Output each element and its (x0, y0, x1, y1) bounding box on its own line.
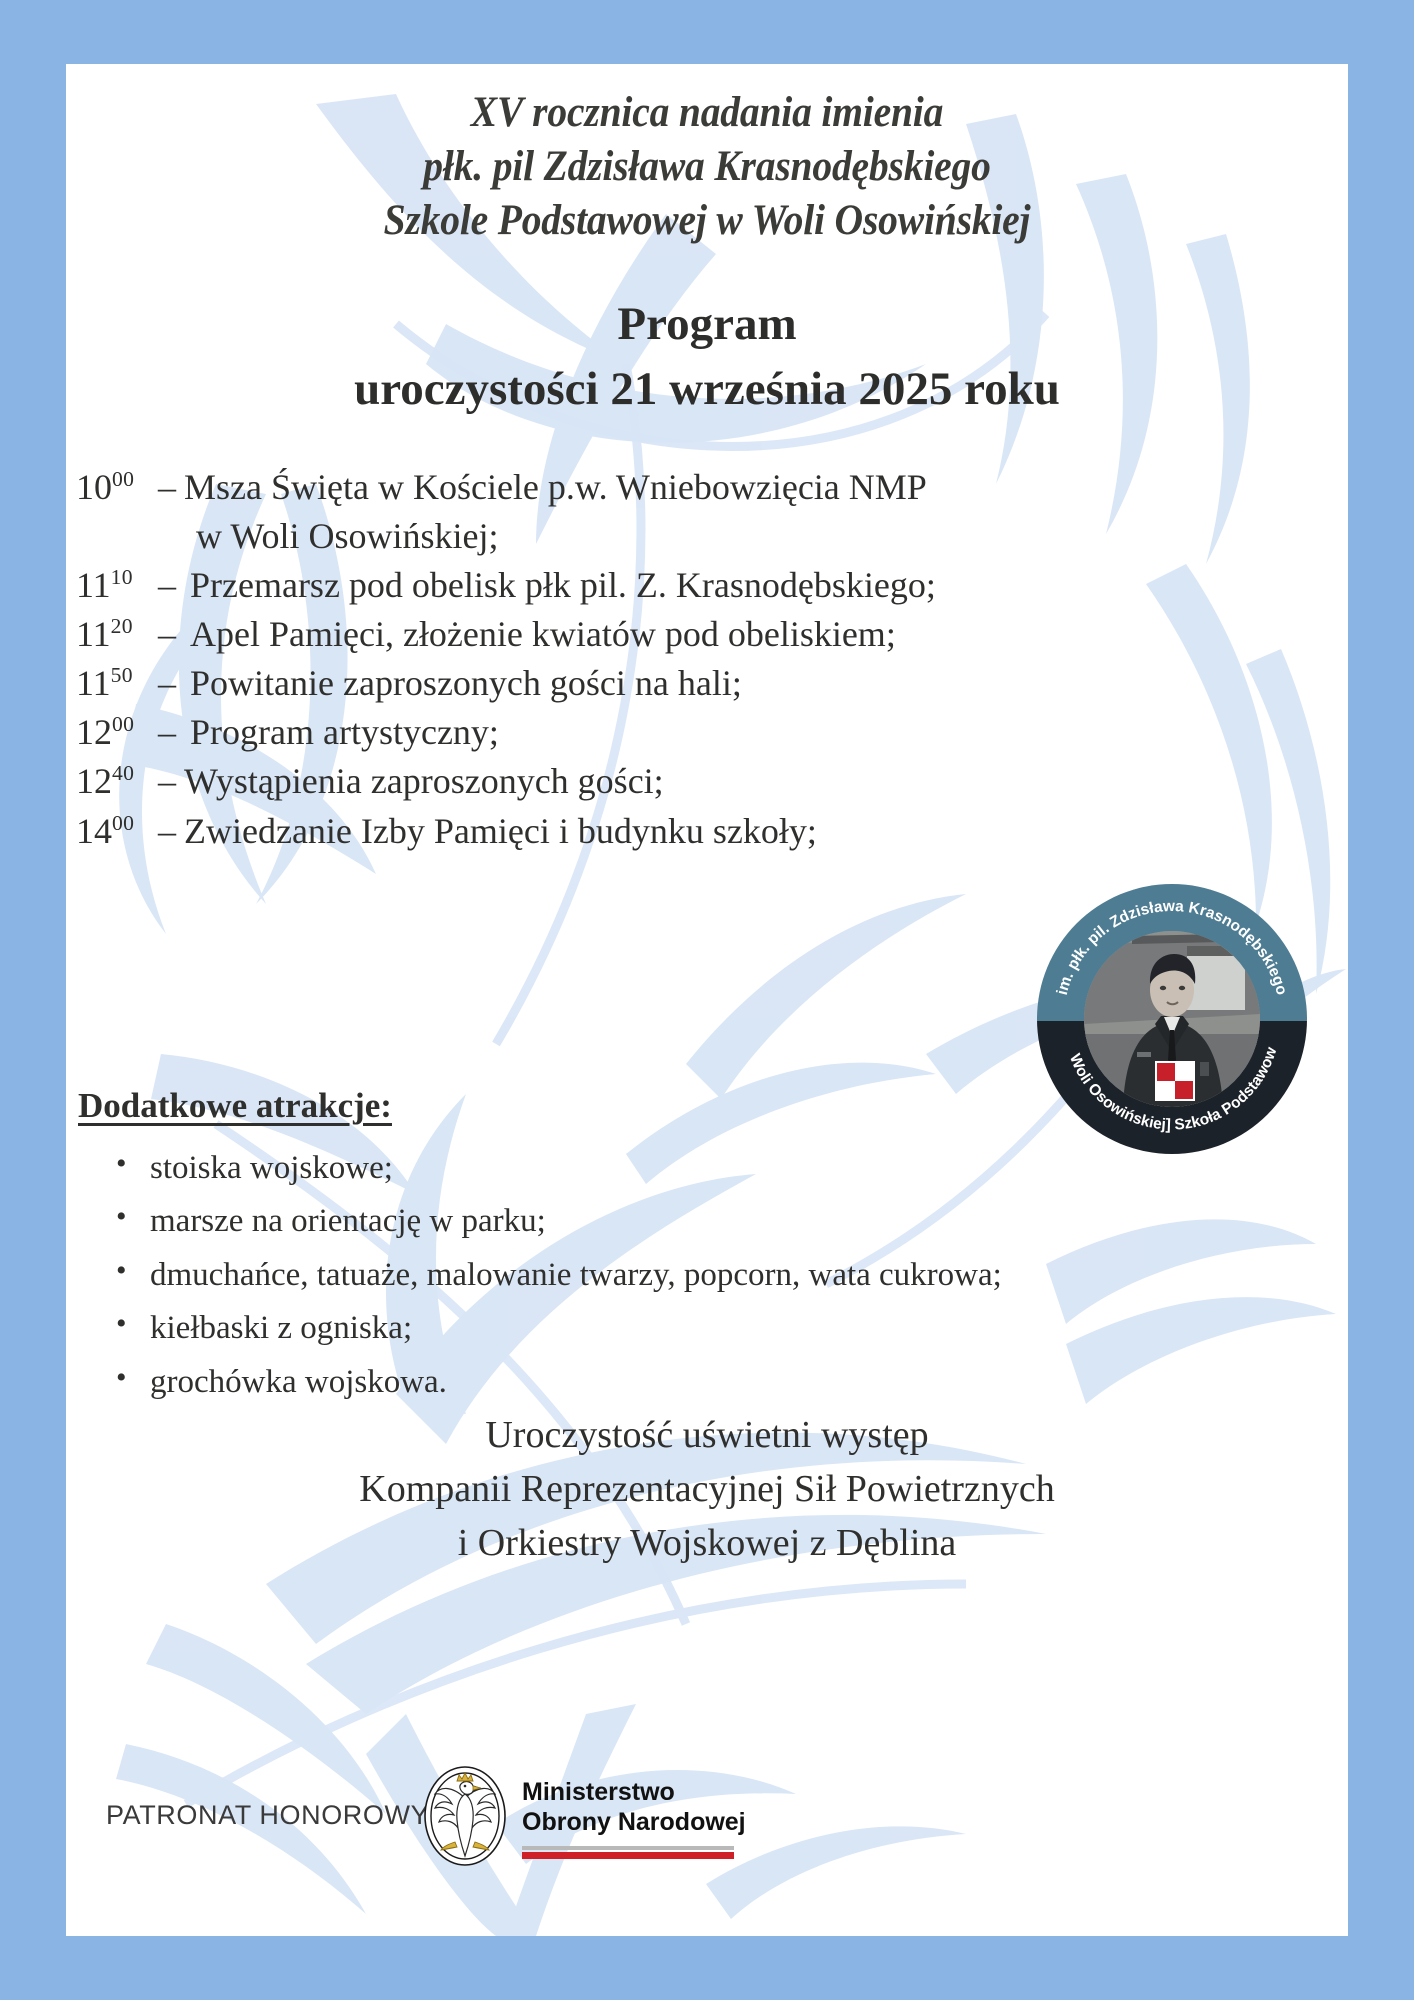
schedule-item: 1150 – Powitanie zaproszonych gości na h… (76, 660, 1076, 706)
schedule-text: Zwiedzanie Izby Pamięci i budynku szkoły… (184, 808, 817, 854)
closing-line-2: Kompanii Reprezentacyjnej Sił Powietrzny… (66, 1463, 1348, 1517)
schedule-item: 1000 – Msza Święta w Kościele p.w. Wnieb… (76, 464, 1076, 510)
polish-eagle-icon (422, 1764, 508, 1868)
schedule-item: 1110 – Przemarsz pod obelisk płk pil. Z.… (76, 562, 1076, 608)
schedule-text: Wystąpienia zaproszonych gości; (184, 758, 664, 804)
closing-line-3: i Orkiestry Wojskowej z Dęblina (66, 1517, 1348, 1571)
title-line-3: Szkole Podstawowej w Woli Osowińskiej (117, 194, 1296, 248)
schedule-time: 1400 (76, 808, 154, 854)
schedule-dash: – (154, 562, 184, 608)
extras-section: Dodatkowe atrakcje: stoiska wojskowe; ma… (78, 1086, 1228, 1409)
closing-line-1: Uroczystość uświetni występ (66, 1409, 1348, 1463)
schedule-text: Program artystyczny; (184, 709, 499, 755)
list-item: marsze na orientację w parku; (150, 1195, 1228, 1248)
schedule-time: 1000 (76, 464, 154, 510)
title-line-2: płk. pil Zdzisława Krasnodębskiego (117, 140, 1296, 194)
extras-heading: Dodatkowe atrakcje: (78, 1086, 392, 1126)
poster-title: XV rocznica nadania imienia płk. pil Zdz… (117, 86, 1296, 249)
schedule-dash: – (154, 611, 184, 657)
ministry-of-defence-logo: Ministerstwo Obrony Narodowej (422, 1764, 746, 1868)
schedule-dash: – (154, 709, 184, 755)
footer: PATRONAT HONOROWY (66, 1764, 1348, 1874)
program-heading-line-1: Program (66, 292, 1348, 357)
list-item: grochówka wojskowa. (150, 1356, 1228, 1409)
red-bar (522, 1852, 734, 1859)
schedule-list: 1000 – Msza Święta w Kościele p.w. Wnieb… (76, 464, 1076, 857)
schedule-continuation: w Woli Osowińskiej; (76, 513, 1076, 559)
schedule-dash: – (154, 758, 184, 804)
schedule-item: 1200 – Program artystyczny; (76, 709, 1076, 755)
schedule-dash: – (154, 808, 184, 854)
schedule-text: Przemarsz pod obelisk płk pil. Z. Krasno… (184, 562, 936, 608)
schedule-text: Msza Święta w Kościele p.w. Wniebowzięci… (184, 464, 927, 510)
schedule-time: 1240 (76, 758, 154, 804)
schedule-time: 1200 (76, 709, 154, 755)
schedule-time: 1120 (76, 611, 154, 657)
list-item: dmuchańce, tatuaże, malowanie twarzy, po… (150, 1249, 1228, 1302)
schedule-text: Apel Pamięci, złożenie kwiatów pod obeli… (184, 611, 896, 657)
schedule-item: 1400 – Zwiedzanie Izby Pamięci i budynku… (76, 808, 1076, 854)
extras-list: stoiska wojskowe; marsze na orientację w… (78, 1142, 1228, 1409)
program-heading-line-2: uroczystości 21 września 2025 roku (66, 357, 1348, 422)
ministry-line-1: Ministerstwo (522, 1777, 746, 1807)
program-heading: Program uroczystości 21 września 2025 ro… (66, 292, 1348, 422)
schedule-time: 1150 (76, 660, 154, 706)
schedule-time: 1110 (76, 562, 154, 608)
schedule-dash: – (154, 464, 184, 510)
grey-bar (522, 1846, 734, 1850)
ministry-name: Ministerstwo Obrony Narodowej (522, 1773, 746, 1837)
title-line-1: XV rocznica nadania imienia (117, 86, 1296, 140)
poster-page: XV rocznica nadania imienia płk. pil Zdz… (66, 64, 1348, 1936)
list-item: kiełbaski z ogniska; (150, 1302, 1228, 1355)
schedule-text: Powitanie zaproszonych gości na hali; (184, 660, 742, 706)
ministry-line-2: Obrony Narodowej (522, 1807, 746, 1837)
list-item: stoiska wojskowe; (150, 1142, 1228, 1195)
schedule-item: 1120 – Apel Pamięci, złożenie kwiatów po… (76, 611, 1076, 657)
patronage-label: PATRONAT HONOROWY (106, 1800, 429, 1831)
flag-bars (522, 1846, 734, 1859)
closing-note: Uroczystość uświetni występ Kompanii Rep… (66, 1409, 1348, 1571)
schedule-dash: – (154, 660, 184, 706)
schedule-item: 1240 – Wystąpienia zaproszonych gości; (76, 758, 1076, 804)
